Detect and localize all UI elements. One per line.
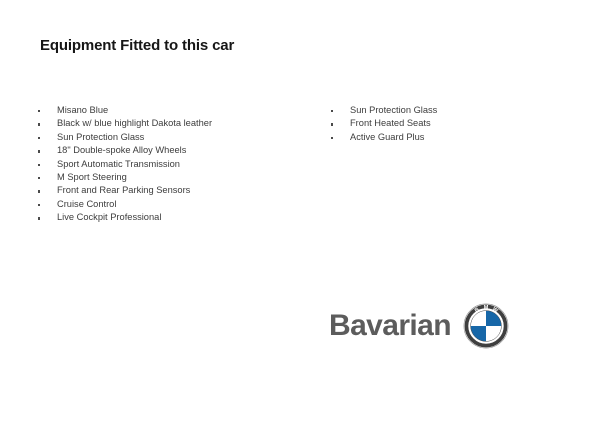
bullet-icon: [331, 110, 333, 112]
equipment-item: Cruise Control: [34, 198, 304, 211]
equipment-item-label: Active Guard Plus: [350, 132, 424, 142]
equipment-item: 18" Double-spoke Alloy Wheels: [34, 144, 304, 157]
equipment-item: Sun Protection Glass: [34, 131, 304, 144]
bullet-icon: [38, 137, 40, 139]
equipment-item: Black w/ blue highlight Dakota leather: [34, 117, 304, 130]
bullet-icon: [38, 123, 40, 125]
equipment-list-left: Misano BlueBlack w/ blue highlight Dakot…: [34, 104, 304, 225]
equipment-item-label: Front Heated Seats: [350, 118, 431, 128]
equipment-item-label: 18" Double-spoke Alloy Wheels: [57, 145, 186, 155]
bullet-icon: [38, 150, 40, 152]
bullet-icon: [38, 217, 40, 219]
equipment-item-label: Black w/ blue highlight Dakota leather: [57, 118, 212, 128]
equipment-item: Front Heated Seats: [327, 117, 587, 130]
equipment-item-label: Misano Blue: [57, 105, 108, 115]
brand-wordmark: Bavarian: [329, 311, 451, 341]
equipment-item: Sun Protection Glass: [327, 104, 587, 117]
bullet-icon: [38, 177, 40, 179]
equipment-item-label: Sun Protection Glass: [350, 105, 437, 115]
equipment-item-label: Sun Protection Glass: [57, 132, 144, 142]
equipment-list-right: Sun Protection GlassFront Heated SeatsAc…: [327, 104, 587, 144]
equipment-item-label: Front and Rear Parking Sensors: [57, 185, 190, 195]
equipment-item: Misano Blue: [34, 104, 304, 117]
equipment-item: M Sport Steering: [34, 171, 304, 184]
brand-lockup: Bavarian B M W: [329, 303, 509, 349]
equipment-item-label: Sport Automatic Transmission: [57, 159, 180, 169]
document-page: Equipment Fitted to this car Misano Blue…: [0, 0, 600, 424]
bullet-icon: [331, 123, 333, 125]
equipment-item-label: Live Cockpit Professional: [57, 212, 161, 222]
bullet-icon: [38, 110, 40, 112]
equipment-item: Live Cockpit Professional: [34, 211, 304, 224]
bullet-icon: [38, 164, 40, 166]
bullet-icon: [331, 137, 333, 139]
bullet-icon: [38, 204, 40, 206]
equipment-item-label: Cruise Control: [57, 199, 116, 209]
equipment-item: Active Guard Plus: [327, 131, 587, 144]
equipment-item: Sport Automatic Transmission: [34, 158, 304, 171]
bullet-icon: [38, 190, 40, 192]
page-title: Equipment Fitted to this car: [40, 37, 234, 54]
roundel-letter-m: M: [484, 305, 489, 311]
bmw-roundel-icon: B M W: [463, 303, 509, 349]
equipment-item-label: M Sport Steering: [57, 172, 127, 182]
equipment-item: Front and Rear Parking Sensors: [34, 184, 304, 197]
